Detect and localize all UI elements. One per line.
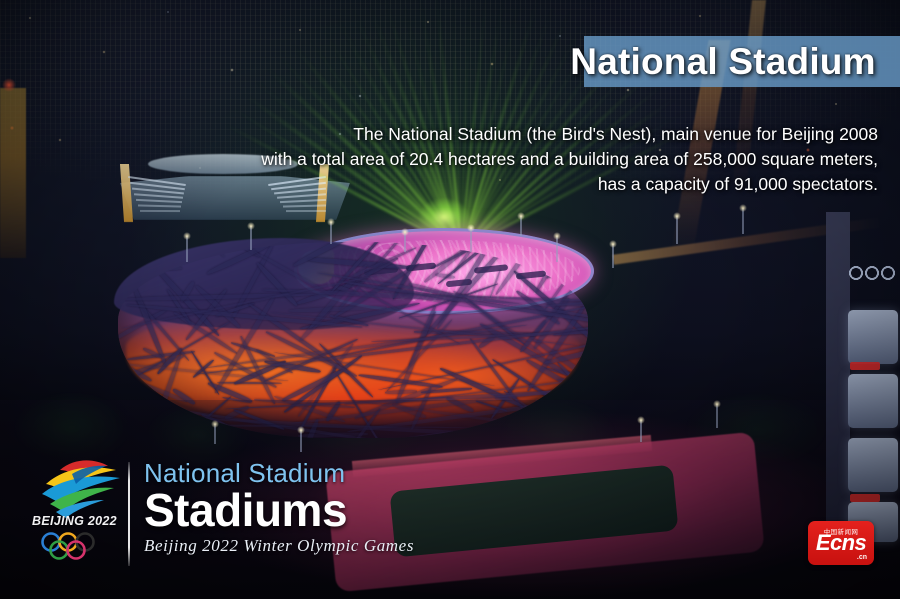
olympic-tower xyxy=(820,212,898,542)
lamp-post xyxy=(250,226,252,250)
ecns-wordmark: Ecns xyxy=(808,531,874,555)
tower-shaft xyxy=(826,212,850,542)
tower-sign-1 xyxy=(850,362,880,370)
beijing-2022-wordmark: BEIJING 2022 xyxy=(32,514,128,528)
lamp-post xyxy=(470,228,472,252)
tower-rings-icon xyxy=(846,264,900,282)
tower-pod-3 xyxy=(848,438,898,492)
tower-beacon-light xyxy=(2,78,16,92)
description-line-1: The National Stadium (the Bird's Nest), … xyxy=(218,122,878,147)
beijing-2022-ribbon-icon xyxy=(30,454,130,520)
tower-sign-2 xyxy=(850,494,880,502)
beijing-2022-emblem: BEIJING 2022 xyxy=(30,454,130,572)
branding-event-name: Beijing 2022 Winter Olympic Games xyxy=(144,535,424,557)
lamp-post xyxy=(742,208,744,234)
ecns-domain: .cn xyxy=(857,554,867,561)
branding-series-name: Stadiums xyxy=(144,486,424,534)
branding-text-group: National Stadium Stadiums Beijing 2022 W… xyxy=(144,458,424,557)
tower-pod-2 xyxy=(848,374,898,428)
description-line-3: has a capacity of 91,000 spectators. xyxy=(218,172,878,197)
lamp-post xyxy=(520,216,522,236)
page-title: National Stadium xyxy=(546,36,900,87)
lamp-post xyxy=(186,236,188,262)
olympic-rings-icon xyxy=(38,532,122,560)
branding-divider xyxy=(128,462,130,566)
lamp-post xyxy=(330,222,332,244)
lamp-post xyxy=(214,424,216,444)
lit-tower-left xyxy=(0,88,26,258)
tower-pod-1 xyxy=(848,310,898,364)
lamp-post xyxy=(612,244,614,268)
branding-block: BEIJING 2022 National Stadium Stadiums B… xyxy=(24,452,424,576)
lamp-post xyxy=(676,216,678,244)
lamp-post xyxy=(404,232,406,252)
lamp-post xyxy=(300,430,302,452)
lamp-post xyxy=(556,236,558,262)
description-line-2: with a total area of 20.4 hectares and a… xyxy=(218,147,878,172)
description-text: The National Stadium (the Bird's Nest), … xyxy=(218,122,878,197)
lamp-post xyxy=(640,420,642,442)
ecns-logo: 中国新闻网 Ecns .cn xyxy=(808,521,874,565)
poster-image: National Stadium The National Stadium (t… xyxy=(0,0,900,599)
lamp-post xyxy=(716,404,718,428)
venue-pylon-left xyxy=(120,164,133,222)
